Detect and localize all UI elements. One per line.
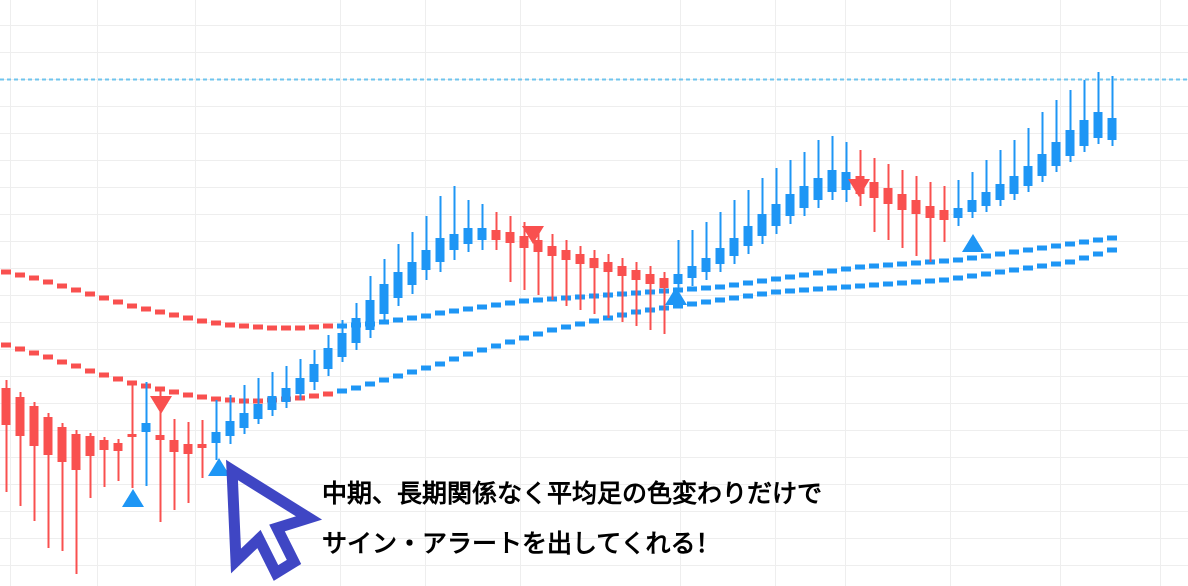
- ma-dash: [911, 261, 921, 266]
- candle-body: [16, 397, 25, 436]
- candle-body: [226, 421, 235, 436]
- ma-dash: [99, 296, 109, 301]
- candle-body: [408, 262, 417, 285]
- candle-body: [86, 436, 95, 456]
- candle-body: [184, 444, 193, 454]
- candle-body: [282, 388, 291, 402]
- ma-dash: [505, 301, 515, 306]
- candle-body: [128, 434, 137, 437]
- ma-dash: [421, 366, 431, 371]
- candle-body: [366, 300, 375, 330]
- candle-body: [352, 318, 361, 343]
- candle-body: [1038, 154, 1047, 176]
- ma-dash: [897, 262, 907, 267]
- ma-dash: [169, 390, 179, 395]
- candle-body: [254, 404, 263, 419]
- ma-dash: [43, 280, 53, 285]
- ma-dash: [1009, 268, 1019, 273]
- ma-dash: [351, 386, 361, 391]
- ma-dash: [491, 344, 501, 349]
- ma-dash: [841, 267, 851, 272]
- ma-dash: [113, 377, 123, 382]
- candle-body: [240, 413, 249, 428]
- ma-dash: [463, 352, 473, 357]
- ma-dash: [477, 348, 487, 353]
- candle-body: [954, 208, 963, 218]
- candle-body: [156, 435, 165, 440]
- ma-dash: [505, 340, 515, 345]
- ma-dash: [449, 357, 459, 362]
- ma-dash: [967, 274, 977, 279]
- candle-body: [730, 238, 739, 256]
- ma-dash: [855, 265, 865, 270]
- ma-dash: [827, 286, 837, 291]
- ma-dash: [939, 278, 949, 283]
- candle-body: [660, 278, 669, 288]
- candle-body: [30, 406, 39, 446]
- ma-dash: [1065, 242, 1075, 247]
- ma-dash: [813, 271, 823, 276]
- candle-body: [688, 266, 697, 278]
- ma-dash: [813, 287, 823, 292]
- ma-dash: [1107, 248, 1117, 253]
- candle-body: [506, 232, 515, 243]
- ma-dash: [99, 373, 109, 378]
- ma-dash: [1037, 264, 1047, 269]
- ma-dash: [253, 325, 263, 330]
- ma-dash: [15, 347, 25, 352]
- ma-dash: [771, 290, 781, 295]
- candle-body: [520, 236, 529, 248]
- ma-dash: [981, 272, 991, 277]
- candle-body: [2, 388, 11, 425]
- ma-dash: [1051, 262, 1061, 267]
- ma-dash: [267, 326, 277, 331]
- ma-dash: [799, 288, 809, 293]
- ma-dash: [687, 302, 697, 307]
- candle-body: [422, 250, 431, 270]
- ma-dash: [785, 275, 795, 280]
- candle-body: [72, 434, 81, 470]
- ma-dash: [995, 270, 1005, 275]
- ma-dash: [1023, 266, 1033, 271]
- ma-dash: [729, 296, 739, 301]
- candle-body: [338, 333, 347, 357]
- candle-body: [1010, 176, 1019, 194]
- ma-dash: [449, 309, 459, 314]
- candle-body: [618, 266, 627, 276]
- ma-dash: [421, 314, 431, 319]
- candle-body: [100, 440, 109, 450]
- candle-body: [576, 254, 585, 264]
- ma-dash: [323, 324, 333, 329]
- candle-body: [114, 443, 123, 451]
- ma-dash: [1023, 248, 1033, 253]
- candle-body: [296, 378, 305, 394]
- candle-body: [926, 206, 935, 218]
- candle-body: [58, 427, 67, 462]
- ma-dash: [295, 326, 305, 331]
- ma-dash: [225, 323, 235, 328]
- candle-body: [912, 200, 921, 214]
- ma-dash: [309, 325, 319, 330]
- ma-dash: [29, 276, 39, 281]
- ma-dash: [729, 283, 739, 288]
- ma-dash: [995, 252, 1005, 257]
- candle-body: [1108, 118, 1117, 140]
- candle-body: [632, 270, 641, 280]
- ma-dash: [141, 307, 151, 312]
- ma-dash: [1093, 252, 1103, 257]
- ma-dash: [953, 276, 963, 281]
- candle-body: [702, 258, 711, 272]
- ma-dash: [701, 286, 711, 291]
- ma-dash: [911, 280, 921, 285]
- candle-body: [674, 274, 683, 284]
- ma-dash: [1, 343, 11, 348]
- candle-body: [450, 234, 459, 250]
- ma-dash: [281, 326, 291, 331]
- ma-dash: [1037, 246, 1047, 251]
- ma-dash: [43, 355, 53, 360]
- candle-body: [590, 258, 599, 268]
- candle-body: [478, 228, 487, 240]
- ma-dash: [953, 258, 963, 263]
- candle-body: [744, 226, 753, 246]
- ma-dash: [757, 292, 767, 297]
- candle-body: [1066, 130, 1075, 156]
- ma-dash: [743, 294, 753, 299]
- ma-dash: [463, 307, 473, 312]
- candle-body: [562, 250, 571, 260]
- ma-dash: [575, 322, 585, 327]
- candle-body: [842, 172, 851, 190]
- ma-dash: [1051, 244, 1061, 249]
- ma-dash: [15, 273, 25, 278]
- ma-dash: [337, 389, 347, 394]
- candle-body: [898, 194, 907, 210]
- ma-dash: [365, 382, 375, 387]
- ma-dash: [435, 362, 445, 367]
- ma-dash: [1009, 250, 1019, 255]
- ma-dash: [57, 284, 67, 289]
- candle-body: [996, 184, 1005, 200]
- ma-dash: [967, 256, 977, 261]
- ma-dash: [715, 285, 725, 290]
- ma-dash: [939, 259, 949, 264]
- ma-dash: [715, 298, 725, 303]
- candle-body: [982, 192, 991, 206]
- ma-dash: [29, 351, 39, 356]
- ma-dash: [701, 300, 711, 305]
- candle-body: [786, 194, 795, 216]
- ma-dash: [883, 263, 893, 268]
- ma-dash: [379, 378, 389, 383]
- ma-dash: [841, 285, 851, 290]
- ma-dash: [113, 300, 123, 305]
- ma-dash: [869, 283, 879, 288]
- candle-body: [646, 274, 655, 284]
- ma-dash: [393, 374, 403, 379]
- candle-body: [170, 440, 179, 452]
- candle-body: [44, 417, 53, 455]
- candle-body: [1024, 166, 1033, 186]
- ma-dash: [533, 298, 543, 303]
- ma-dash: [57, 360, 67, 365]
- candle-body: [814, 178, 823, 200]
- ma-dash: [547, 328, 557, 333]
- ma-dash: [687, 287, 697, 292]
- ma-dash: [827, 269, 837, 274]
- ma-dash: [491, 303, 501, 308]
- candle-body: [380, 284, 389, 314]
- candle-body: [548, 246, 557, 256]
- ma-dash: [85, 369, 95, 374]
- candle-body: [268, 396, 277, 410]
- ma-dash: [1079, 240, 1089, 245]
- ma-dash: [561, 325, 571, 330]
- ma-dash: [197, 395, 207, 400]
- ma-dash: [757, 279, 767, 284]
- candle-body: [884, 188, 893, 204]
- ma-dash: [407, 316, 417, 321]
- ma-dash: [925, 279, 935, 284]
- ma-dash: [785, 289, 795, 294]
- ma-dash: [869, 264, 879, 269]
- ma-dash: [883, 282, 893, 287]
- candle-body: [310, 364, 319, 382]
- candle-body: [800, 186, 809, 208]
- ma-dash: [183, 316, 193, 321]
- ma-dash: [71, 288, 81, 293]
- candle-body: [828, 170, 837, 192]
- candle-body: [436, 238, 445, 262]
- ma-dash: [211, 321, 221, 326]
- ma-dash: [127, 304, 137, 309]
- ma-dash: [771, 277, 781, 282]
- ma-dash: [1093, 238, 1103, 243]
- ma-dash: [743, 281, 753, 286]
- ma-dash: [239, 324, 249, 329]
- ma-dash: [981, 254, 991, 259]
- ma-dash: [519, 299, 529, 304]
- candle-body: [968, 200, 977, 212]
- candle-body: [758, 214, 767, 236]
- candle-body: [464, 228, 473, 244]
- ma-dash: [323, 392, 333, 397]
- ma-dash: [855, 284, 865, 289]
- ma-dash: [1, 270, 11, 275]
- candle-body: [324, 348, 333, 369]
- ma-dash: [1065, 260, 1075, 265]
- candle-body: [142, 423, 151, 432]
- ma-dash: [169, 313, 179, 318]
- ma-dash: [85, 292, 95, 297]
- candle-body: [394, 272, 403, 298]
- ma-dash: [435, 311, 445, 316]
- ma-dash: [519, 336, 529, 341]
- candle-body: [940, 210, 949, 220]
- ma-dash: [533, 332, 543, 337]
- candle-body: [212, 432, 221, 443]
- ma-dash: [393, 318, 403, 323]
- ma-dash: [155, 310, 165, 315]
- candle-body: [772, 204, 781, 226]
- candle-body: [492, 230, 501, 240]
- ma-dash: [897, 281, 907, 286]
- candle-body: [716, 248, 725, 264]
- candle-body: [1080, 120, 1089, 146]
- candle-body: [534, 240, 543, 252]
- ma-dash: [1079, 256, 1089, 261]
- heikin-ashi-chart: [0, 0, 1188, 586]
- ma-dash: [309, 394, 319, 399]
- candle-body: [1052, 142, 1061, 166]
- candle-body: [604, 262, 613, 272]
- ma-dash: [799, 273, 809, 278]
- ma-dash: [183, 393, 193, 398]
- ma-dash: [407, 370, 417, 375]
- ma-dash: [1107, 236, 1117, 241]
- candle-body: [198, 444, 207, 448]
- candle-body: [870, 182, 879, 198]
- ma-dash: [197, 319, 207, 324]
- ma-dash: [127, 381, 137, 386]
- chart-canvas: 中期、長期関係なく平均足の色変わりだけで サイン・アラートを出してくれる！: [0, 0, 1188, 586]
- candle-body: [1094, 112, 1103, 138]
- ma-dash: [71, 364, 81, 369]
- ma-dash: [477, 305, 487, 310]
- ma-dash: [589, 319, 599, 324]
